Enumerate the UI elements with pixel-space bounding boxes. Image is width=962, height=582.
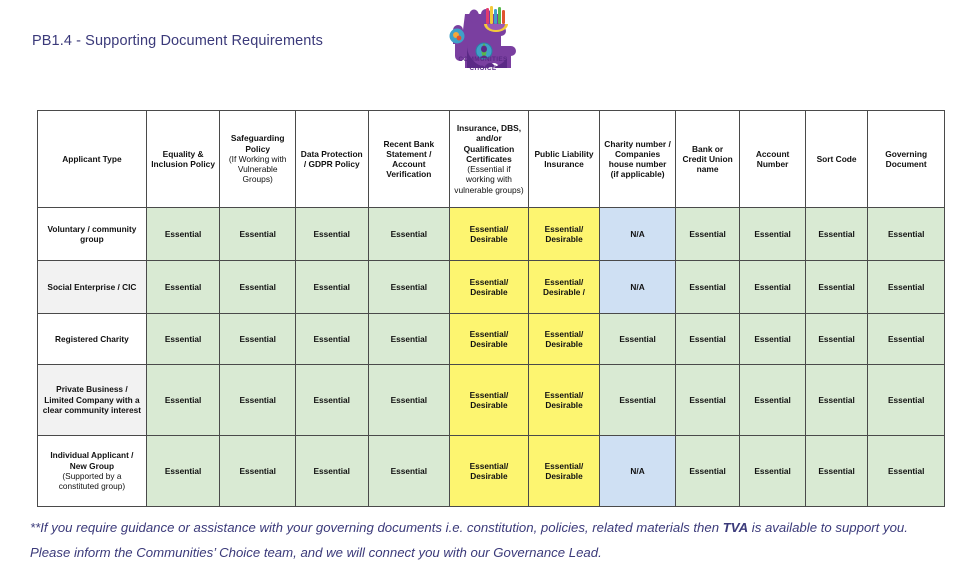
table-cell: N/A xyxy=(600,261,676,314)
column-header-title: Sort Code xyxy=(817,154,857,164)
table-body: Voluntary / community groupEssentialEsse… xyxy=(38,208,945,507)
column-header-title: Insurance, DBS, and/or Qualification Cer… xyxy=(457,123,521,164)
row-label-applicant-type: Social Enterprise / CIC xyxy=(38,261,147,314)
table-cell: Essential xyxy=(805,314,867,365)
table-row: Private Business / Limited Company with … xyxy=(38,365,945,436)
column-header-5: Insurance, DBS, and/or Qualification Cer… xyxy=(450,111,529,208)
column-header-title: Data Protection / GDPR Policy xyxy=(301,149,363,169)
row-label-text: Private Business / Limited Company with … xyxy=(43,384,141,415)
column-header-title: Equality & Inclusion Policy xyxy=(151,149,215,169)
table-cell: Essential xyxy=(295,208,368,261)
table-cell: Essential xyxy=(675,436,739,507)
table-cell: Essential xyxy=(295,365,368,436)
column-header-subtitle: (If Working with Vulnerable Groups) xyxy=(224,154,291,185)
table-cell: Essential xyxy=(805,261,867,314)
column-header-2: Safeguarding Policy(If Working with Vuln… xyxy=(220,111,296,208)
column-header-8: Bank or Credit Union name xyxy=(675,111,739,208)
column-header-1: Equality & Inclusion Policy xyxy=(146,111,220,208)
table-cell: Essential/ Desirable xyxy=(528,314,600,365)
column-header-9: Account Number xyxy=(740,111,806,208)
table-cell: N/A xyxy=(600,208,676,261)
column-header-title: Charity number / Companies house number … xyxy=(604,139,671,180)
table-cell: Essential xyxy=(740,365,806,436)
table-cell: Essential xyxy=(600,365,676,436)
table-cell: Essential/ Desirable xyxy=(450,436,529,507)
table-row: Registered CharityEssentialEssentialEsse… xyxy=(38,314,945,365)
table-cell: Essential xyxy=(146,314,220,365)
footnote-emphasis-tva: TVA xyxy=(723,520,748,535)
table-cell: Essential xyxy=(295,436,368,507)
table-cell: Essential/ Desirable xyxy=(450,208,529,261)
table-cell: Essential xyxy=(868,314,945,365)
column-header-7: Charity number / Companies house number … xyxy=(600,111,676,208)
column-header-title: Public Liability Insurance xyxy=(534,149,593,169)
column-header-title: Safeguarding Policy xyxy=(231,133,285,153)
table-cell: Essential xyxy=(295,261,368,314)
table-cell: Essential/ Desirable xyxy=(450,261,529,314)
guidance-footnote: **If you require guidance or assistance … xyxy=(30,515,930,565)
table-cell: Essential xyxy=(146,436,220,507)
column-header-title: Governing Document xyxy=(885,149,927,169)
table-row: Voluntary / community groupEssentialEsse… xyxy=(38,208,945,261)
row-label-text: Registered Charity xyxy=(55,334,129,344)
column-header-title: Applicant Type xyxy=(62,154,121,164)
table-cell: Essential xyxy=(675,261,739,314)
logo-wordmark: COMMUNITIES CHOICE xyxy=(443,56,523,73)
table-cell: Essential xyxy=(220,314,296,365)
table-cell: Essential xyxy=(220,261,296,314)
table-cell: Essential xyxy=(368,208,450,261)
table-cell: N/A xyxy=(600,436,676,507)
table-cell: Essential xyxy=(740,314,806,365)
table-cell: Essential/ Desirable / xyxy=(528,261,600,314)
table-cell: Essential xyxy=(368,261,450,314)
table-cell: Essential xyxy=(600,314,676,365)
table-cell: Essential xyxy=(146,365,220,436)
row-label-text: Individual Applicant / New Group xyxy=(50,450,133,470)
table-cell: Essential xyxy=(805,208,867,261)
table-cell: Essential/ Desirable xyxy=(528,208,600,261)
table-cell: Essential xyxy=(805,436,867,507)
table-cell: Essential xyxy=(675,365,739,436)
table-cell: Essential/ Desirable xyxy=(528,365,600,436)
table-cell: Essential xyxy=(146,208,220,261)
column-header-title: Bank or Credit Union name xyxy=(682,144,732,174)
footnote-text-before: **If you require guidance or assistance … xyxy=(30,520,723,535)
table-cell: Essential xyxy=(868,365,945,436)
table-cell: Essential xyxy=(146,261,220,314)
supporting-document-requirements-table: Applicant TypeEquality & Inclusion Polic… xyxy=(37,110,945,507)
table-cell: Essential xyxy=(295,314,368,365)
row-label-applicant-type: Registered Charity xyxy=(38,314,147,365)
table-cell: Essential/ Desirable xyxy=(450,314,529,365)
table-cell: Essential xyxy=(368,365,450,436)
column-header-6: Public Liability Insurance xyxy=(528,111,600,208)
column-header-10: Sort Code xyxy=(805,111,867,208)
table-cell: Essential xyxy=(868,436,945,507)
logo-wordmark-line1: COMMUNITIES xyxy=(443,56,523,65)
page-title: PB1.4 - Supporting Document Requirements xyxy=(32,33,323,49)
column-header-11: Governing Document xyxy=(868,111,945,208)
row-label-applicant-type: Voluntary / community group xyxy=(38,208,147,261)
row-label-subtext: (Supported by a constituted group) xyxy=(42,471,142,492)
table-cell: Essential xyxy=(675,208,739,261)
column-header-title: Recent Bank Statement / Account Verifica… xyxy=(383,139,434,180)
requirements-table-container: Applicant TypeEquality & Inclusion Polic… xyxy=(37,110,945,507)
table-cell: Essential/ Desirable xyxy=(450,365,529,436)
table-cell: Essential xyxy=(740,208,806,261)
document-header: PB1.4 - Supporting Document Requirements xyxy=(0,0,962,96)
table-row: Social Enterprise / CICEssentialEssentia… xyxy=(38,261,945,314)
row-label-applicant-type: Individual Applicant / New Group(Support… xyxy=(38,436,147,507)
column-header-0: Applicant Type xyxy=(38,111,147,208)
table-header-row-group: Applicant TypeEquality & Inclusion Polic… xyxy=(38,111,945,208)
table-cell: Essential/ Desirable xyxy=(528,436,600,507)
table-cell: Essential xyxy=(868,208,945,261)
table-cell: Essential xyxy=(220,365,296,436)
table-row: Individual Applicant / New Group(Support… xyxy=(38,436,945,507)
table-cell: Essential xyxy=(220,436,296,507)
table-cell: Essential xyxy=(368,436,450,507)
table-header-row: Applicant TypeEquality & Inclusion Polic… xyxy=(38,111,945,208)
column-header-title: Account Number xyxy=(756,149,790,169)
column-header-3: Data Protection / GDPR Policy xyxy=(295,111,368,208)
row-label-text: Voluntary / community group xyxy=(48,224,137,244)
row-label-text: Social Enterprise / CIC xyxy=(47,282,136,292)
table-cell: Essential xyxy=(220,208,296,261)
table-cell: Essential xyxy=(805,365,867,436)
column-header-4: Recent Bank Statement / Account Verifica… xyxy=(368,111,450,208)
table-cell: Essential xyxy=(868,261,945,314)
column-header-subtitle: (Essential if working with vulnerable gr… xyxy=(454,164,524,195)
table-cell: Essential xyxy=(740,261,806,314)
table-cell: Essential xyxy=(740,436,806,507)
table-cell: Essential xyxy=(675,314,739,365)
table-cell: Essential xyxy=(368,314,450,365)
logo-wordmark-line2: CHOICE xyxy=(443,65,523,74)
row-label-applicant-type: Private Business / Limited Company with … xyxy=(38,365,147,436)
